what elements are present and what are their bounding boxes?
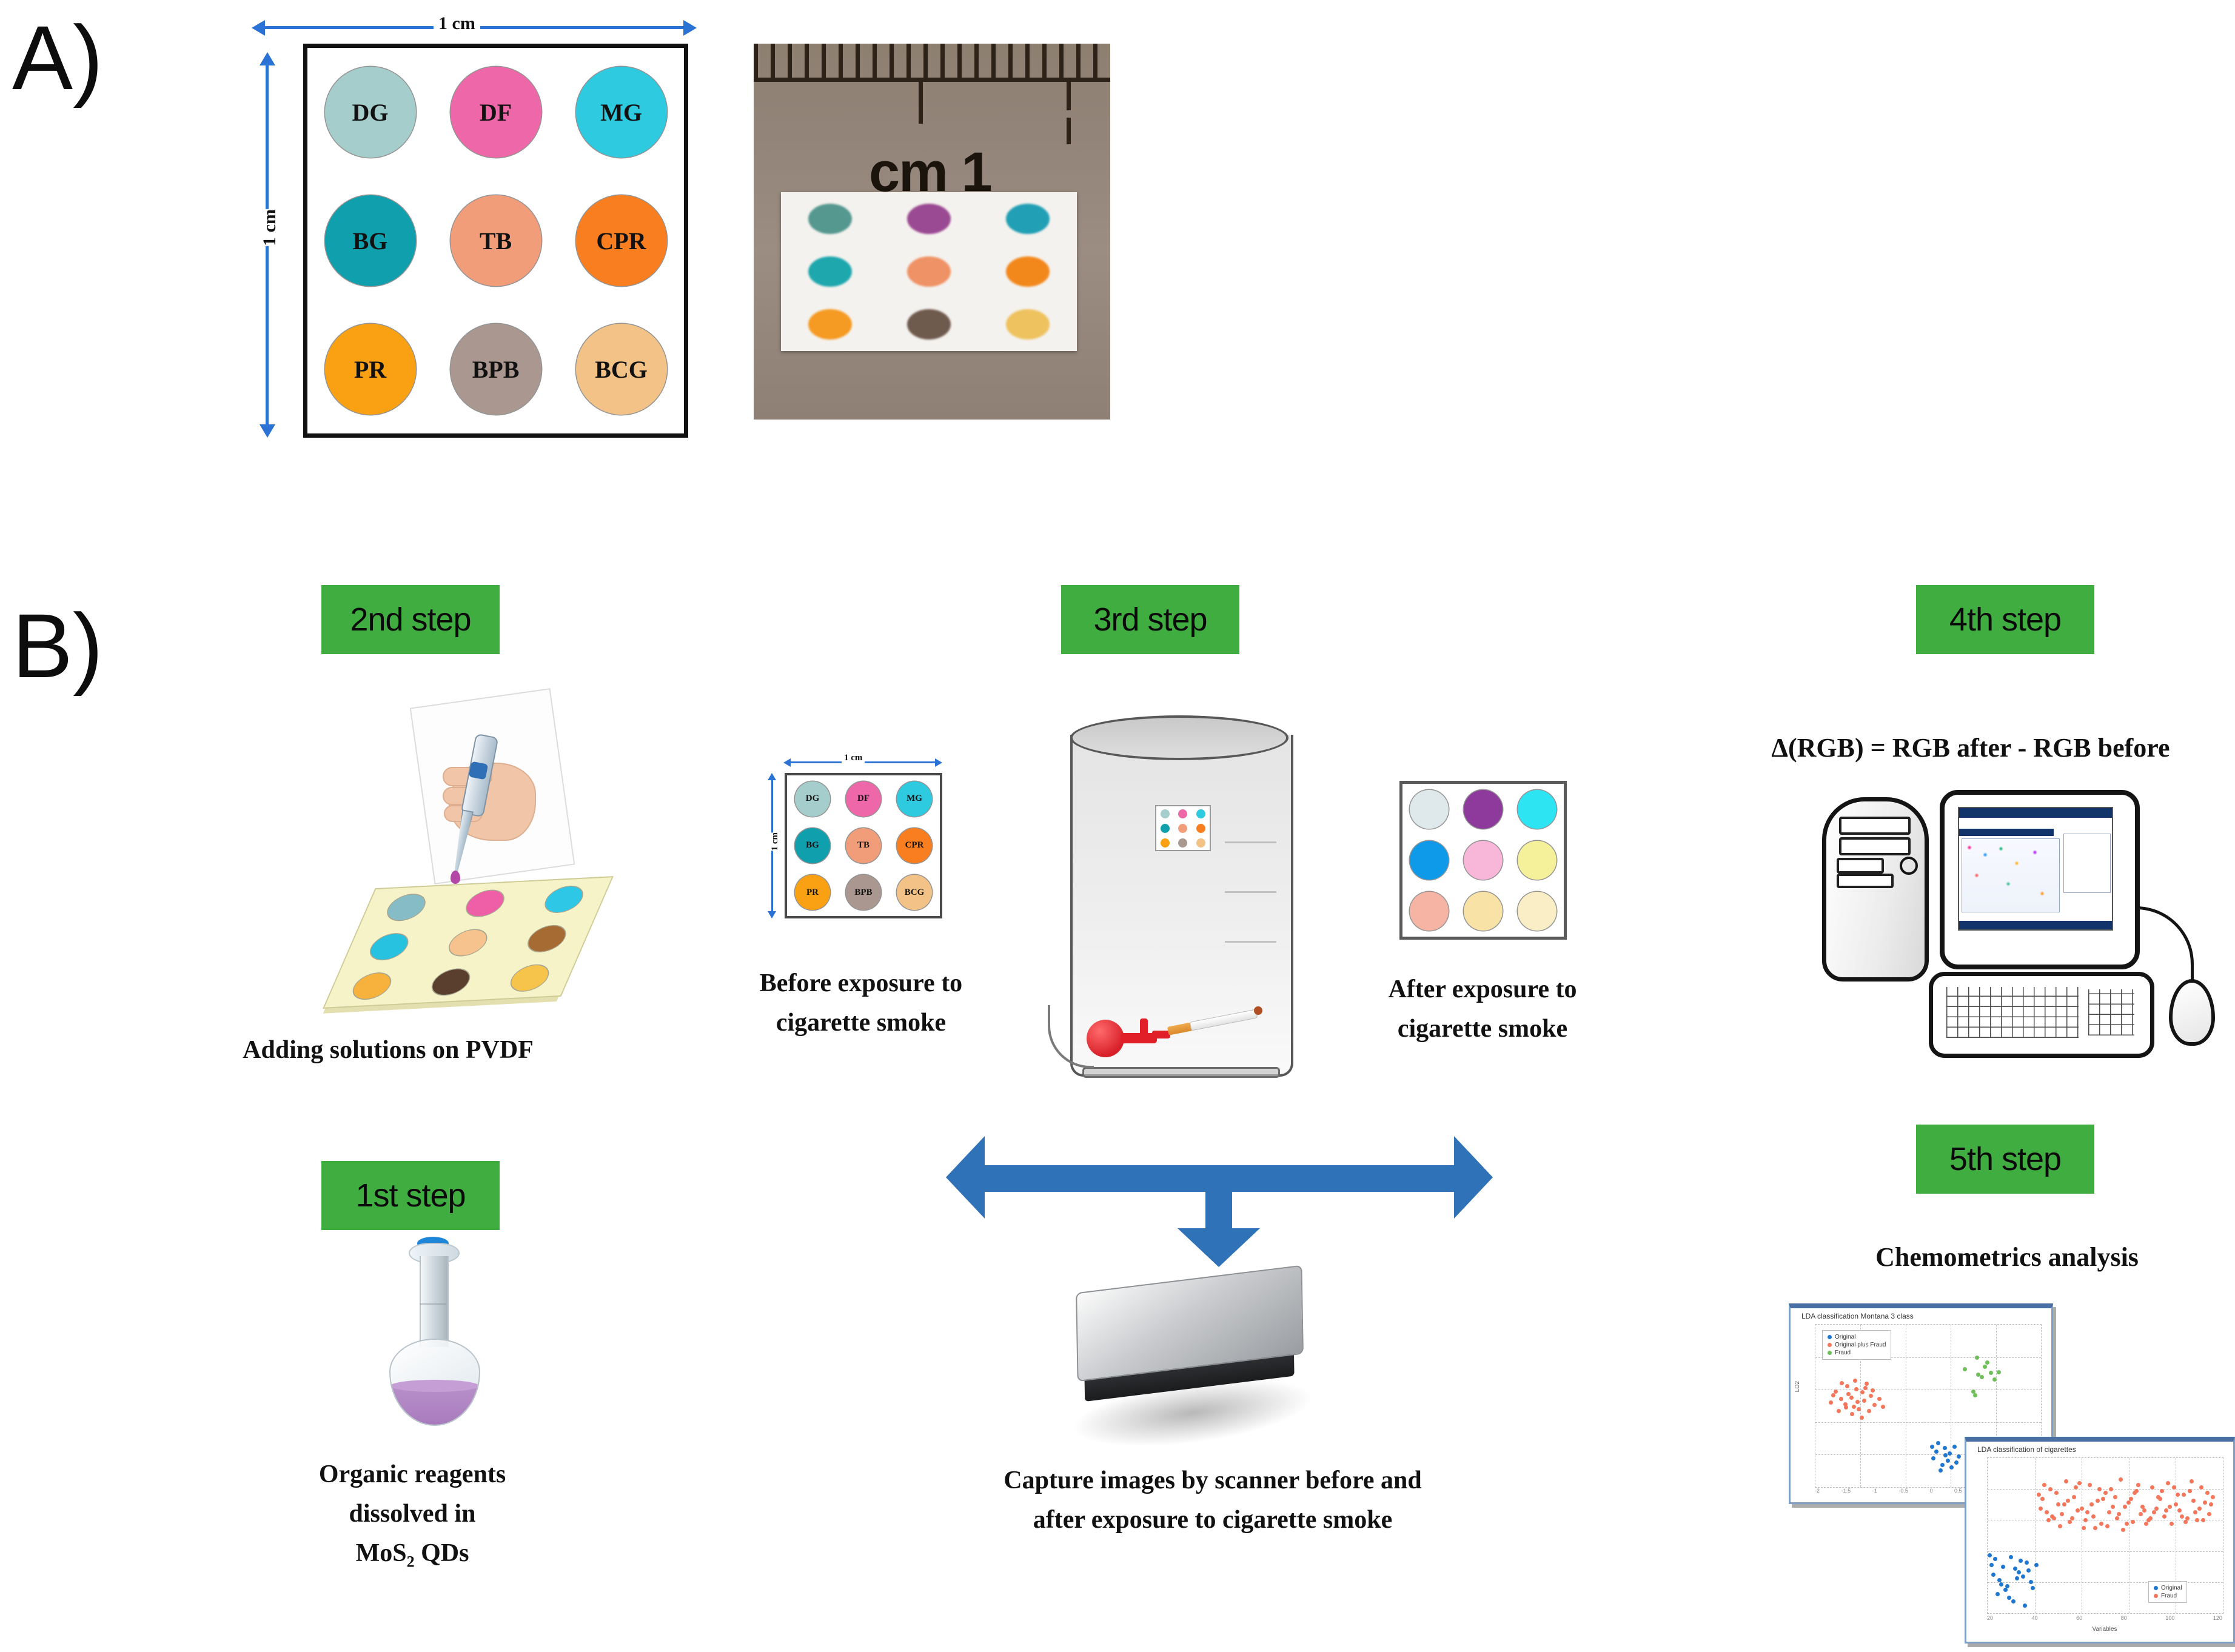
plot-point — [1843, 1402, 1848, 1406]
plot-point — [2099, 1522, 2103, 1526]
after-membrane — [1399, 781, 1567, 940]
after-spot — [1518, 841, 1556, 880]
plot-point — [2034, 1563, 2039, 1567]
plot-point — [1954, 1460, 1959, 1465]
plot-point — [1931, 1456, 1935, 1460]
before-dim-arrowhead-up — [768, 773, 776, 780]
mouse-cord — [2136, 906, 2194, 982]
plot-point — [2039, 1507, 2043, 1511]
plot-point — [2197, 1507, 2202, 1511]
flask-liquid-surface — [390, 1380, 479, 1392]
plot-point — [2088, 1483, 2092, 1487]
plot-point — [2107, 1510, 2111, 1514]
plot-point — [2011, 1599, 2016, 1604]
step-chip-3rd: 3rd step — [1061, 585, 1239, 654]
plot-point — [2097, 1487, 2102, 1491]
plot-gridline-v — [2035, 1458, 2036, 1613]
before-caption-line1: Before exposure to — [722, 964, 1000, 1003]
plot-point — [1855, 1400, 1860, 1404]
plot-point — [2133, 1491, 2137, 1495]
plot2-title: LDA classification of cigarettes — [1977, 1445, 2222, 1454]
plot-point — [1837, 1409, 1841, 1413]
plot-point — [1860, 1416, 1864, 1420]
plot-point — [2156, 1495, 2160, 1499]
smoke-chamber-illustration — [1049, 703, 1334, 1103]
plot-point — [1949, 1465, 1954, 1470]
plot-point — [2119, 1477, 2123, 1482]
before-dim-arrowhead-down — [768, 911, 776, 918]
plot-point — [2023, 1604, 2027, 1608]
tray-spot — [349, 972, 395, 1000]
plot-point — [1850, 1412, 1854, 1416]
plot-point — [2150, 1485, 2154, 1490]
step2-illustration — [261, 691, 600, 1012]
plot-gridline-v — [1951, 1325, 1951, 1487]
panel-a-letter: A) — [12, 12, 103, 103]
plot-point — [1975, 1356, 1979, 1360]
reagent-spot-label: DF — [480, 98, 512, 127]
before-spot-label: PR — [806, 888, 819, 898]
tray-spot — [366, 933, 412, 960]
tray-spot-grid — [324, 877, 612, 1008]
keyboard-main-keys — [1946, 987, 2079, 1038]
beaker-base — [1082, 1067, 1280, 1078]
plot-point — [2136, 1483, 2140, 1487]
reagent-spot-bg: BG — [325, 195, 416, 286]
step1-caption-line2: dissolved in — [230, 1494, 594, 1534]
plot-point — [1840, 1381, 1844, 1385]
reagent-spot-pr: PR — [325, 324, 416, 415]
x-tick-label: -0.5 — [1898, 1488, 1908, 1494]
plot-point — [2058, 1524, 2062, 1528]
screen-side-window — [2063, 834, 2111, 893]
legend-row: Original — [1828, 1334, 1886, 1340]
after-spot — [1464, 790, 1503, 829]
plot-point — [2105, 1524, 2109, 1528]
legend-label: Original — [1835, 1334, 1855, 1340]
plot-point — [2205, 1491, 2210, 1495]
plot-point — [2070, 1516, 2074, 1520]
plot-point — [1934, 1450, 1938, 1454]
reagent-spot-dg: DG — [325, 67, 416, 158]
plot-point — [1881, 1405, 1885, 1409]
plot-point — [2207, 1512, 2211, 1516]
beaker-mini-spot — [1178, 809, 1187, 818]
plot-point — [2048, 1487, 2052, 1491]
plot-point — [2144, 1522, 2148, 1526]
legend-row: Original — [2154, 1585, 2182, 1591]
beaker-membrane-strip — [1155, 805, 1211, 851]
before-spot-label: TB — [857, 840, 870, 851]
plot-point — [2174, 1502, 2178, 1507]
plot-point — [2160, 1489, 2164, 1493]
plot-point — [1867, 1409, 1871, 1413]
legend-color-swatch — [2154, 1594, 2158, 1598]
pipette-droplet — [451, 871, 460, 884]
plot-point — [1952, 1445, 1957, 1449]
plot-point — [2170, 1522, 2174, 1526]
legend-row: Fraud — [2154, 1593, 2182, 1599]
photo-membrane — [781, 192, 1077, 351]
plot-point — [1985, 1360, 1989, 1365]
plot-point — [2193, 1510, 2197, 1514]
pc-monitor — [1940, 790, 2140, 969]
after-caption: After exposure to cigarette smoke — [1340, 970, 1625, 1049]
plot-point — [1853, 1379, 1857, 1383]
plot-point — [2056, 1502, 2060, 1507]
beaker-rim — [1070, 715, 1288, 760]
before-spot-bg: BG — [795, 828, 830, 863]
plot-point — [2168, 1505, 2172, 1509]
plot-point — [2123, 1505, 2127, 1509]
plot-point — [2209, 1502, 2213, 1507]
plot-point — [1997, 1370, 2001, 1374]
plot-point — [2001, 1565, 2005, 1569]
plot-point — [2111, 1505, 2115, 1509]
plot-point — [1993, 1557, 1997, 1561]
plot-point — [2085, 1510, 2089, 1514]
plot-point — [2103, 1491, 2108, 1495]
scanner-caption: Capture images by scanner before and aft… — [897, 1461, 1528, 1540]
plot-point — [1940, 1463, 1945, 1467]
plot-point — [1983, 1365, 1987, 1369]
after-spot — [1410, 790, 1449, 829]
legend-row: Original plus Fraud — [1828, 1342, 1886, 1348]
reagent-spot-label: MG — [600, 98, 642, 127]
arrow-head-left — [946, 1136, 985, 1219]
bulb-neck — [1121, 1033, 1157, 1043]
plot-point — [2191, 1499, 2196, 1503]
plot-point — [1860, 1390, 1865, 1394]
before-spot-dg: DG — [795, 781, 830, 817]
plot-point — [2113, 1495, 2117, 1499]
plot-point — [2042, 1483, 2046, 1487]
plot-point — [1829, 1400, 1833, 1405]
mos2-pre: MoS — [356, 1539, 407, 1567]
screen-taskbar — [1959, 921, 2112, 929]
step1-caption: Organic reagents dissolved in MoS2 QDs — [230, 1455, 594, 1574]
legend-color-swatch — [2154, 1586, 2158, 1590]
flask-bulb — [389, 1339, 480, 1426]
before-membrane-block: 1 cm 1 cm DGDFMGBGTBCPRPRBPBBCG — [757, 755, 963, 949]
plot-point — [2072, 1495, 2076, 1499]
plot-point — [1849, 1396, 1854, 1400]
tray-spot — [445, 929, 491, 956]
beaker-graduation-2 — [1225, 891, 1276, 893]
plot2-area — [1987, 1457, 2223, 1614]
screen-titlebar — [1959, 808, 2112, 818]
scanner-caption-line1: Capture images by scanner before and — [897, 1461, 1528, 1500]
plot-point — [2199, 1485, 2203, 1490]
legend-label: Fraud — [1835, 1349, 1851, 1356]
beaker-spot-grid — [1156, 806, 1210, 850]
dim-label-top: 1 cm — [434, 13, 480, 34]
plot-point — [2015, 1576, 2019, 1580]
plot-point — [1852, 1405, 1856, 1409]
plot-point — [1943, 1446, 1947, 1450]
pipette-grip — [469, 761, 488, 780]
plot-point — [2177, 1508, 2182, 1513]
plot-point — [2166, 1481, 2170, 1485]
plot-point — [2172, 1485, 2176, 1490]
plot-point — [1936, 1441, 1940, 1445]
before-spot-label: BCG — [905, 888, 925, 898]
photo-spot — [1006, 204, 1050, 234]
step1-caption-line3: MoS2 QDs — [230, 1534, 594, 1574]
plot-point — [2131, 1520, 2135, 1524]
plot-point — [2037, 1493, 2041, 1497]
reagent-spot-label: DG — [352, 98, 389, 127]
pc-drive-slot-4 — [1837, 874, 1894, 888]
pc-screen — [1958, 807, 2113, 931]
plot-point — [2050, 1514, 2054, 1519]
flask-neck — [420, 1256, 449, 1347]
plot-point — [2060, 1512, 2064, 1516]
plot-point — [2142, 1508, 2146, 1513]
scanner-caption-line2: after exposure to cigarette smoke — [897, 1500, 1528, 1540]
plot-point — [2195, 1518, 2199, 1522]
beaker-mini-spot — [1161, 838, 1170, 848]
plot-point — [1948, 1451, 1952, 1456]
plot-point — [2129, 1497, 2133, 1501]
plot-point — [2080, 1507, 2084, 1511]
legend-color-swatch — [1828, 1335, 1832, 1339]
before-membrane: DGDFMGBGTBCPRPRBPBBCG — [785, 773, 942, 918]
reagent-spot-label: TB — [480, 227, 512, 255]
plot-point — [1995, 1592, 2000, 1596]
tray-spot — [524, 925, 570, 952]
beaker-mini-spot — [1196, 824, 1205, 833]
plot-point — [1946, 1459, 1950, 1463]
after-spot — [1518, 892, 1556, 931]
tray-spot — [428, 968, 474, 995]
bulb-valve — [1140, 1018, 1148, 1037]
before-spot-bcg: BCG — [897, 875, 932, 910]
plot-gridline-v — [2129, 1458, 2129, 1613]
step2-caption: Adding solutions on PVDF — [200, 1031, 576, 1070]
plot-point — [2083, 1518, 2088, 1522]
plot-point — [2025, 1560, 2029, 1565]
step-chip-4th: 4th step — [1916, 585, 2094, 654]
after-spot — [1464, 841, 1503, 880]
plot-point — [2115, 1516, 2119, 1520]
plot-point — [2045, 1510, 2049, 1514]
plot-point — [2182, 1493, 2186, 1497]
before-spot-label: BPB — [854, 888, 872, 898]
legend-label: Original — [2161, 1585, 2182, 1591]
cigarette-ember — [1254, 1006, 1262, 1015]
keyboard-numpad — [2088, 989, 2134, 1035]
dim-label-left: 1 cm — [255, 209, 285, 246]
reagent-spot-label: BPB — [472, 355, 520, 384]
plot-point — [2029, 1580, 2033, 1584]
x-tick-label: 80 — [2121, 1615, 2127, 1621]
tray-spot — [384, 894, 430, 921]
plot-point — [2101, 1497, 2105, 1501]
plot-point — [2007, 1596, 2011, 1600]
plot-point — [1877, 1397, 1881, 1401]
plot-point — [2188, 1489, 2192, 1493]
step-chip-1st: 1st step — [321, 1161, 500, 1230]
step5-caption: Chemometrics analysis — [1789, 1237, 2225, 1278]
after-spot — [1410, 892, 1449, 931]
plot-point — [1989, 1371, 1993, 1375]
after-caption-line2: cigarette smoke — [1340, 1009, 1625, 1049]
legend-label: Fraud — [2161, 1593, 2177, 1599]
plot-point — [2089, 1502, 2094, 1507]
plot-point — [2162, 1514, 2166, 1519]
mos2-post: QDs — [415, 1539, 469, 1567]
plot-point — [2121, 1528, 2125, 1532]
plot-point — [2164, 1508, 2168, 1513]
plot-point — [1930, 1445, 1934, 1449]
plot-point — [1957, 1454, 1961, 1459]
plot1-y-label: LD2 — [1794, 1381, 1801, 1392]
before-caption-line2: cigarette smoke — [722, 1003, 1000, 1043]
step-chip-5th: 5th step — [1916, 1125, 2094, 1194]
panel-a-photograph: cm 1 — [754, 44, 1110, 420]
after-spot — [1410, 841, 1449, 880]
plot2-legend: OriginalFraud — [2148, 1581, 2187, 1603]
legend-row: Fraud — [1828, 1349, 1886, 1356]
plot-gridline-v — [2082, 1458, 2082, 1613]
ruler-baseline — [754, 78, 1110, 82]
plot-point — [1871, 1388, 1875, 1393]
plot-point — [2064, 1479, 2068, 1483]
reagent-spot-cpr: CPR — [576, 195, 667, 286]
pc-power-button[interactable] — [1900, 857, 1918, 875]
tray-spot — [507, 964, 553, 991]
dim-arrowhead-down — [260, 424, 275, 438]
before-dim-arrowhead-left — [783, 758, 791, 767]
after-spot — [1464, 892, 1503, 931]
plot-point — [2117, 1512, 2121, 1516]
plot-point — [2180, 1514, 2184, 1519]
plot-point — [2148, 1516, 2153, 1520]
bulb-connector — [1152, 1031, 1170, 1038]
plot-gridline-h — [1988, 1551, 2223, 1552]
plot-point — [1854, 1387, 1858, 1391]
before-caption: Before exposure to cigarette smoke — [722, 964, 1000, 1043]
legend-color-swatch — [1828, 1343, 1832, 1347]
x-tick-label: 40 — [2032, 1615, 2038, 1621]
beaker-mini-spot — [1161, 809, 1170, 818]
photo-spot — [1006, 309, 1050, 339]
plot-point — [2096, 1499, 2100, 1503]
plot-point — [1831, 1393, 1835, 1397]
plot-point — [1943, 1453, 1948, 1457]
plot-point — [1963, 1367, 1967, 1371]
plot-point — [2176, 1493, 2180, 1497]
before-dim-label-left: 1 cm — [765, 832, 785, 851]
plot-point — [2211, 1495, 2215, 1499]
plot-point — [1973, 1393, 1977, 1397]
pc-drive-slot-3 — [1837, 858, 1884, 874]
arrow-head-right — [1454, 1136, 1493, 1219]
rgb-equation: Δ(RGB) = RGB after - RGB before — [1704, 727, 2235, 769]
before-spot-label: DG — [806, 794, 820, 804]
before-dim-label-top: 1 cm — [842, 753, 865, 763]
photo-spot — [808, 309, 852, 339]
x-tick-label: 120 — [2213, 1615, 2222, 1621]
reagent-spot-label: PR — [354, 355, 386, 384]
split-arrow — [946, 1115, 1492, 1255]
pc-keyboard[interactable] — [1929, 972, 2154, 1058]
plot-point — [1989, 1563, 1994, 1567]
before-spot-label: CPR — [905, 840, 924, 851]
plot-point — [2152, 1510, 2156, 1514]
plot-point — [2062, 1502, 2066, 1507]
plot-point — [2031, 1586, 2035, 1590]
x-tick-label: -1 — [1872, 1488, 1877, 1494]
plot-point — [2003, 1588, 2008, 1592]
reagent-spot-tb: TB — [451, 195, 541, 286]
beaker-graduation-1 — [1225, 841, 1276, 843]
plot-point — [2013, 1567, 2017, 1571]
panel-a-membrane-schematic: DGDFMGBGTBCPRPRBPBBCG — [303, 44, 688, 438]
flask-liquid — [390, 1387, 479, 1425]
photo-spot-grid — [781, 192, 1077, 351]
plot-point — [2054, 1491, 2059, 1495]
beaker-graduation-3 — [1225, 941, 1276, 943]
ruler-tick-minor — [1067, 80, 1071, 110]
before-spot-cpr: CPR — [897, 828, 932, 863]
flask-graduation-ring — [420, 1303, 446, 1305]
plot-point — [2183, 1520, 2188, 1524]
before-spot-bpb: BPB — [846, 875, 881, 910]
ruler-tick-major — [919, 80, 923, 124]
before-spot-pr: PR — [795, 875, 830, 910]
plot-point — [2091, 1514, 2096, 1519]
plot-point — [2082, 1526, 2086, 1530]
screen-data-window — [1962, 838, 2060, 912]
reagent-spot-df: DF — [451, 67, 541, 158]
chemometrics-plot-2: LDA classification of cigarettes Origina… — [1965, 1437, 2235, 1644]
x-tick-label: -1.5 — [1841, 1488, 1851, 1494]
plot-point — [2109, 1487, 2113, 1491]
plot-point — [1938, 1468, 1943, 1473]
plot-point — [2021, 1574, 2025, 1579]
plot-point — [1980, 1375, 1984, 1379]
plot1-title: LDA classification Montana 3 class — [1801, 1312, 2044, 1320]
after-spot — [1518, 790, 1556, 829]
pc-drive-slot-1 — [1839, 817, 1911, 835]
before-dim-arrowhead-right — [935, 758, 942, 767]
beaker-mini-spot — [1196, 838, 1205, 848]
reagent-spot-label: BCG — [595, 355, 648, 384]
legend-label: Original plus Fraud — [1835, 1342, 1886, 1348]
photo-spot — [907, 204, 951, 234]
screen-menubar — [1959, 829, 2054, 836]
plot-point — [2201, 1518, 2205, 1522]
plot-gridline-h — [1988, 1582, 2223, 1583]
plot-gridline-v — [1906, 1325, 1906, 1487]
pc-mouse[interactable] — [2169, 979, 2215, 1046]
reagent-spot-label: BG — [353, 227, 388, 255]
reagent-spot-bcg: BCG — [576, 324, 667, 415]
plot-point — [2017, 1570, 2021, 1574]
ruler-ticks — [754, 44, 1110, 79]
photo-spot — [808, 256, 852, 287]
rubber-bulb — [1087, 1020, 1124, 1057]
pvdf-tray — [323, 876, 614, 1009]
plot-point — [1988, 1553, 1992, 1557]
flatbed-scanner — [1076, 1265, 1307, 1451]
plot-point — [2093, 1526, 2097, 1530]
plot2-x-ticks: 20406080100120 — [1987, 1615, 2222, 1621]
computer-illustration — [1810, 779, 2222, 1082]
plot-point — [2076, 1508, 2080, 1513]
